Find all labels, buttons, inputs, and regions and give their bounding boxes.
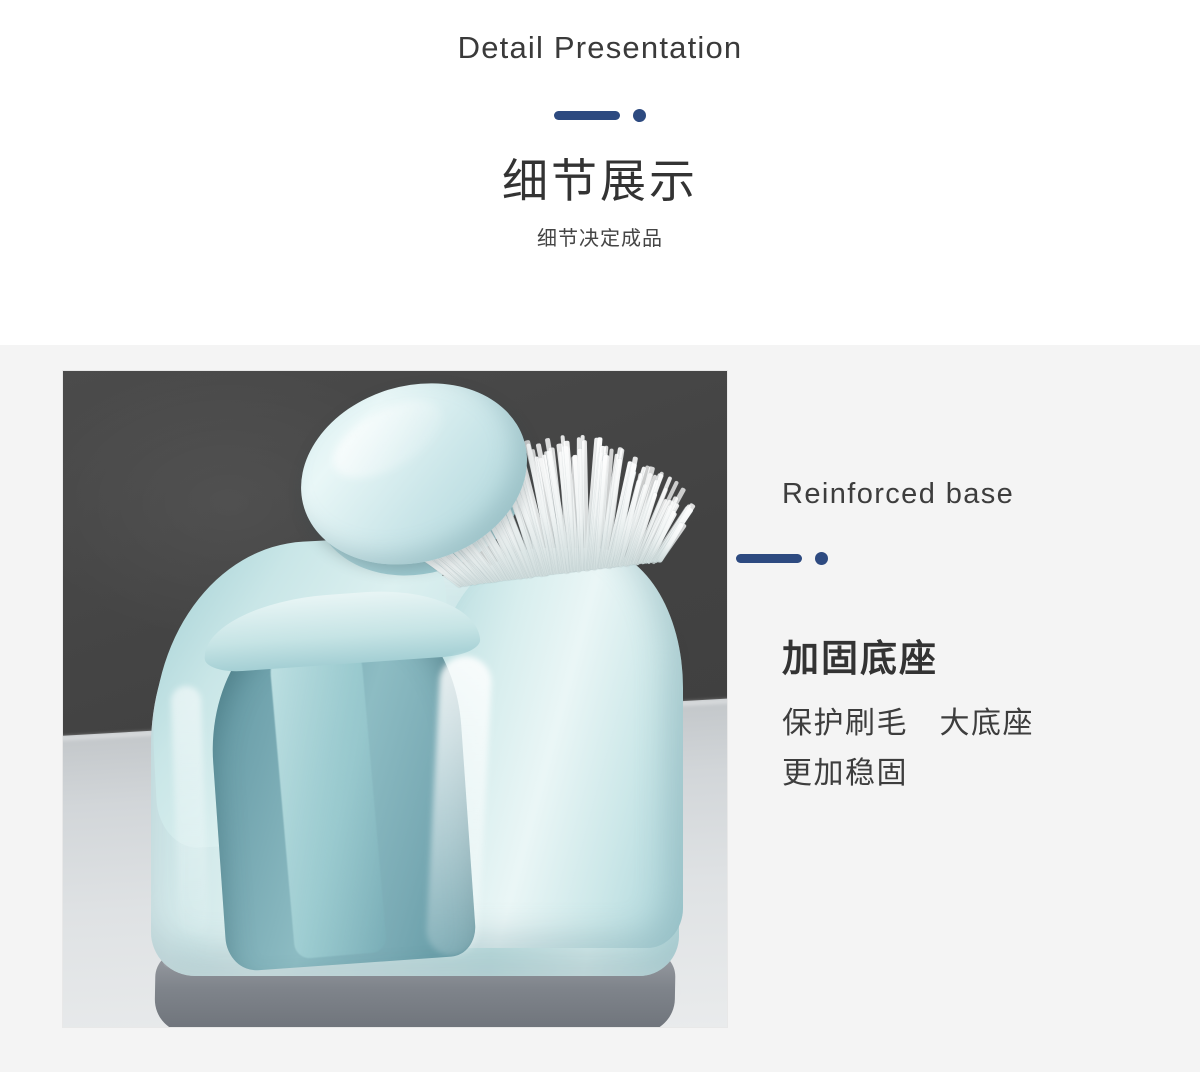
divider-bar-icon: [554, 111, 620, 120]
brush-head-gloss: [321, 385, 454, 494]
divider-bar-icon: [736, 554, 802, 563]
feature-title-chinese: 加固底座: [782, 628, 1142, 682]
feature-divider-ornament: [736, 551, 828, 565]
product-brush-holder: [103, 456, 703, 1028]
feature-text-column: Reinforced base 加固底座 保护刷毛 大底座 更加稳固: [782, 0, 1142, 1072]
divider-dot-icon: [633, 109, 646, 122]
feature-description-line-2: 更加稳固: [782, 748, 1142, 792]
divider-dot-icon: [815, 552, 828, 565]
product-detail-page: Detail Presentation 细节展示 细节决定成品: [0, 0, 1200, 1072]
feature-description-line-1: 保护刷毛 大底座: [782, 698, 1142, 742]
feature-title-english: Reinforced base: [782, 478, 1142, 511]
header-divider-ornament: [554, 108, 646, 122]
product-photo: [62, 370, 728, 1028]
